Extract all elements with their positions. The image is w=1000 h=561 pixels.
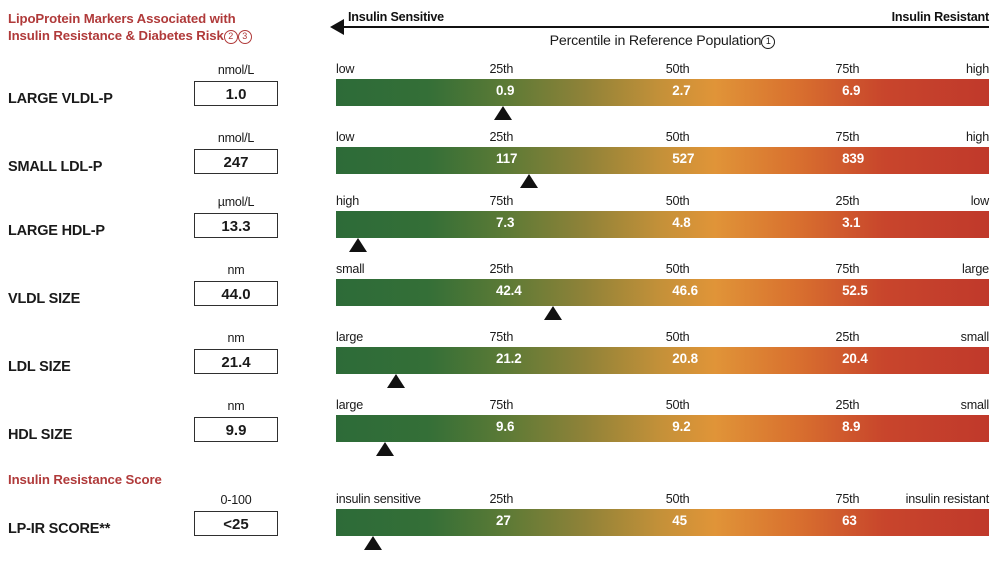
cutpoint-value-5-2: 8.9 [842,419,860,434]
cutpoint-value-3-1: 46.6 [672,283,698,298]
value-box-5: 9.9 [194,417,278,442]
tick-label-3-2: 50th [666,262,690,276]
cutpoint-value-0-0: 0.9 [496,83,514,98]
cutpoint-value-4-0: 21.2 [496,351,522,366]
tick-label-4-3: 25th [836,330,860,344]
cutpoint-value-0-1: 2.7 [672,83,690,98]
tick-label-2-1: 75th [489,194,513,208]
tick-label-1-3: 75th [836,130,860,144]
result-marker-pointer-2 [349,238,367,252]
result-marker-pointer-3 [544,306,562,320]
tick-label-5-2: 50th [666,398,690,412]
tick-labels-1: low25th50th75thhigh [336,130,989,147]
scale-row-3: small25th50th75thlarge42.446.652.5 [336,262,989,306]
tick-label-0-0: low [336,62,354,76]
result-marker-pointer-5 [376,442,394,456]
value-box-4: 21.4 [194,349,278,374]
value-box-1: 247 [194,149,278,174]
cutpoint-value-3-0: 42.4 [496,283,522,298]
scale-row-4: large75th50th25thsmall21.220.820.4 [336,330,989,374]
marker-name-large-hdl-p: LARGE HDL-P [8,223,198,239]
gradient-bar-3: 42.446.652.5 [336,279,989,306]
scale-row-1: low25th50th75thhigh117527839 [336,130,989,174]
cutpoint-value-6-0: 27 [496,513,511,528]
gradient-bar-2: 7.34.83.1 [336,211,989,238]
axis-label-insulin-resistant: Insulin Resistant [846,10,989,24]
tick-label-6-1: 25th [489,492,513,506]
tick-label-0-3: 75th [836,62,860,76]
value-box-2: 13.3 [194,213,278,238]
tick-label-2-0: high [336,194,359,208]
tick-label-5-4: small [961,398,989,412]
marker-name-ldl-size: LDL SIZE [8,359,198,375]
unit-label-0: nmol/L [193,63,279,77]
tick-label-4-0: large [336,330,363,344]
tick-label-4-1: 75th [489,330,513,344]
cutpoint-value-4-1: 20.8 [672,351,698,366]
result-marker-pointer-6 [364,536,382,550]
gradient-bar-4: 21.220.820.4 [336,347,989,374]
axis-header-rule [336,26,989,28]
cutpoint-value-5-1: 9.2 [672,419,690,434]
tick-labels-2: high75th50th25thlow [336,194,989,211]
gradient-bar-0: 0.92.76.9 [336,79,989,106]
scale-row-0: low25th50th75thhigh0.92.76.9 [336,62,989,106]
axis-label-insulin-sensitive: Insulin Sensitive [348,10,444,24]
tick-label-4-4: small [961,330,989,344]
tick-label-1-0: low [336,130,354,144]
cutpoint-value-1-2: 839 [842,151,864,166]
marker-name-vldl-size: VLDL SIZE [8,291,198,307]
tick-label-5-0: large [336,398,363,412]
tick-label-0-1: 25th [489,62,513,76]
scale-row-5: large75th50th25thsmall9.69.28.9 [336,398,989,442]
cutpoint-value-3-2: 52.5 [842,283,868,298]
value-box-6: <25 [194,511,278,536]
unit-label-5: nm [193,399,279,413]
tick-labels-4: large75th50th25thsmall [336,330,989,347]
axis-caption-text: Percentile in Reference Population [550,33,762,49]
panel-title: LipoProtein Markers Associated with Insu… [8,10,318,44]
tick-label-6-2: 50th [666,492,690,506]
tick-label-0-4: high [966,62,989,76]
cutpoint-value-2-1: 4.8 [672,215,690,230]
tick-label-3-4: large [962,262,989,276]
cutpoint-value-2-0: 7.3 [496,215,514,230]
cutpoint-value-2-2: 3.1 [842,215,860,230]
tick-labels-0: low25th50th75thhigh [336,62,989,79]
unit-label-2: µmol/L [193,195,279,209]
scale-row-6: insulin sensitive25th50th75thinsulin res… [336,492,989,536]
gradient-bar-5: 9.69.28.9 [336,415,989,442]
value-box-3: 44.0 [194,281,278,306]
tick-label-1-2: 50th [666,130,690,144]
result-marker-pointer-1 [520,174,538,188]
tick-label-3-1: 25th [489,262,513,276]
tick-label-3-0: small [336,262,364,276]
tick-label-5-3: 25th [836,398,860,412]
cutpoint-value-0-2: 6.9 [842,83,860,98]
cutpoint-value-1-0: 117 [496,151,517,166]
tick-label-0-2: 50th [666,62,690,76]
footnote-ref-3-icon: 3 [238,30,252,44]
axis-caption: Percentile in Reference Population1 [336,33,989,49]
value-box-0: 1.0 [194,81,278,106]
tick-label-4-2: 50th [666,330,690,344]
tick-labels-3: small25th50th75thlarge [336,262,989,279]
tick-label-2-4: low [971,194,989,208]
tick-label-6-3: 75th [836,492,860,506]
scale-row-2: high75th50th25thlow7.34.83.1 [336,194,989,238]
footnote-ref-2-icon: 2 [224,30,238,44]
section-heading-insulin-resistance-score: Insulin Resistance Score [8,472,318,487]
tick-label-2-2: 50th [666,194,690,208]
unit-label-4: nm [193,331,279,345]
result-marker-pointer-0 [494,106,512,120]
tick-label-2-3: 25th [836,194,860,208]
tick-label-6-0: insulin sensitive [336,492,421,506]
tick-label-3-3: 75th [836,262,860,276]
tick-labels-5: large75th50th25thsmall [336,398,989,415]
tick-label-6-4: insulin resistant [906,492,989,506]
marker-name-small-ldl-p: SMALL LDL-P [8,159,198,175]
unit-label-1: nmol/L [193,131,279,145]
cutpoint-value-4-2: 20.4 [842,351,868,366]
marker-name-hdl-size: HDL SIZE [8,427,198,443]
gradient-bar-1: 117527839 [336,147,989,174]
cutpoint-value-6-1: 45 [672,513,687,528]
cutpoint-value-5-0: 9.6 [496,419,514,434]
marker-name-lp-ir-score: LP-IR SCORE** [8,521,198,537]
gradient-bar-6: 274563 [336,509,989,536]
unit-label-3: nm [193,263,279,277]
unit-label-6: 0-100 [193,493,279,507]
tick-label-1-1: 25th [489,130,513,144]
panel-title-line2: Insulin Resistance & Diabetes Risk [8,28,224,43]
result-marker-pointer-4 [387,374,405,388]
marker-name-large-vldl-p: LARGE VLDL-P [8,91,198,107]
cutpoint-value-6-2: 63 [842,513,857,528]
panel-title-line1: LipoProtein Markers Associated with [8,11,236,26]
footnote-ref-1-icon: 1 [761,35,775,49]
cutpoint-value-1-1: 527 [672,151,694,166]
tick-label-5-1: 75th [489,398,513,412]
tick-labels-6: insulin sensitive25th50th75thinsulin res… [336,492,989,509]
tick-label-1-4: high [966,130,989,144]
